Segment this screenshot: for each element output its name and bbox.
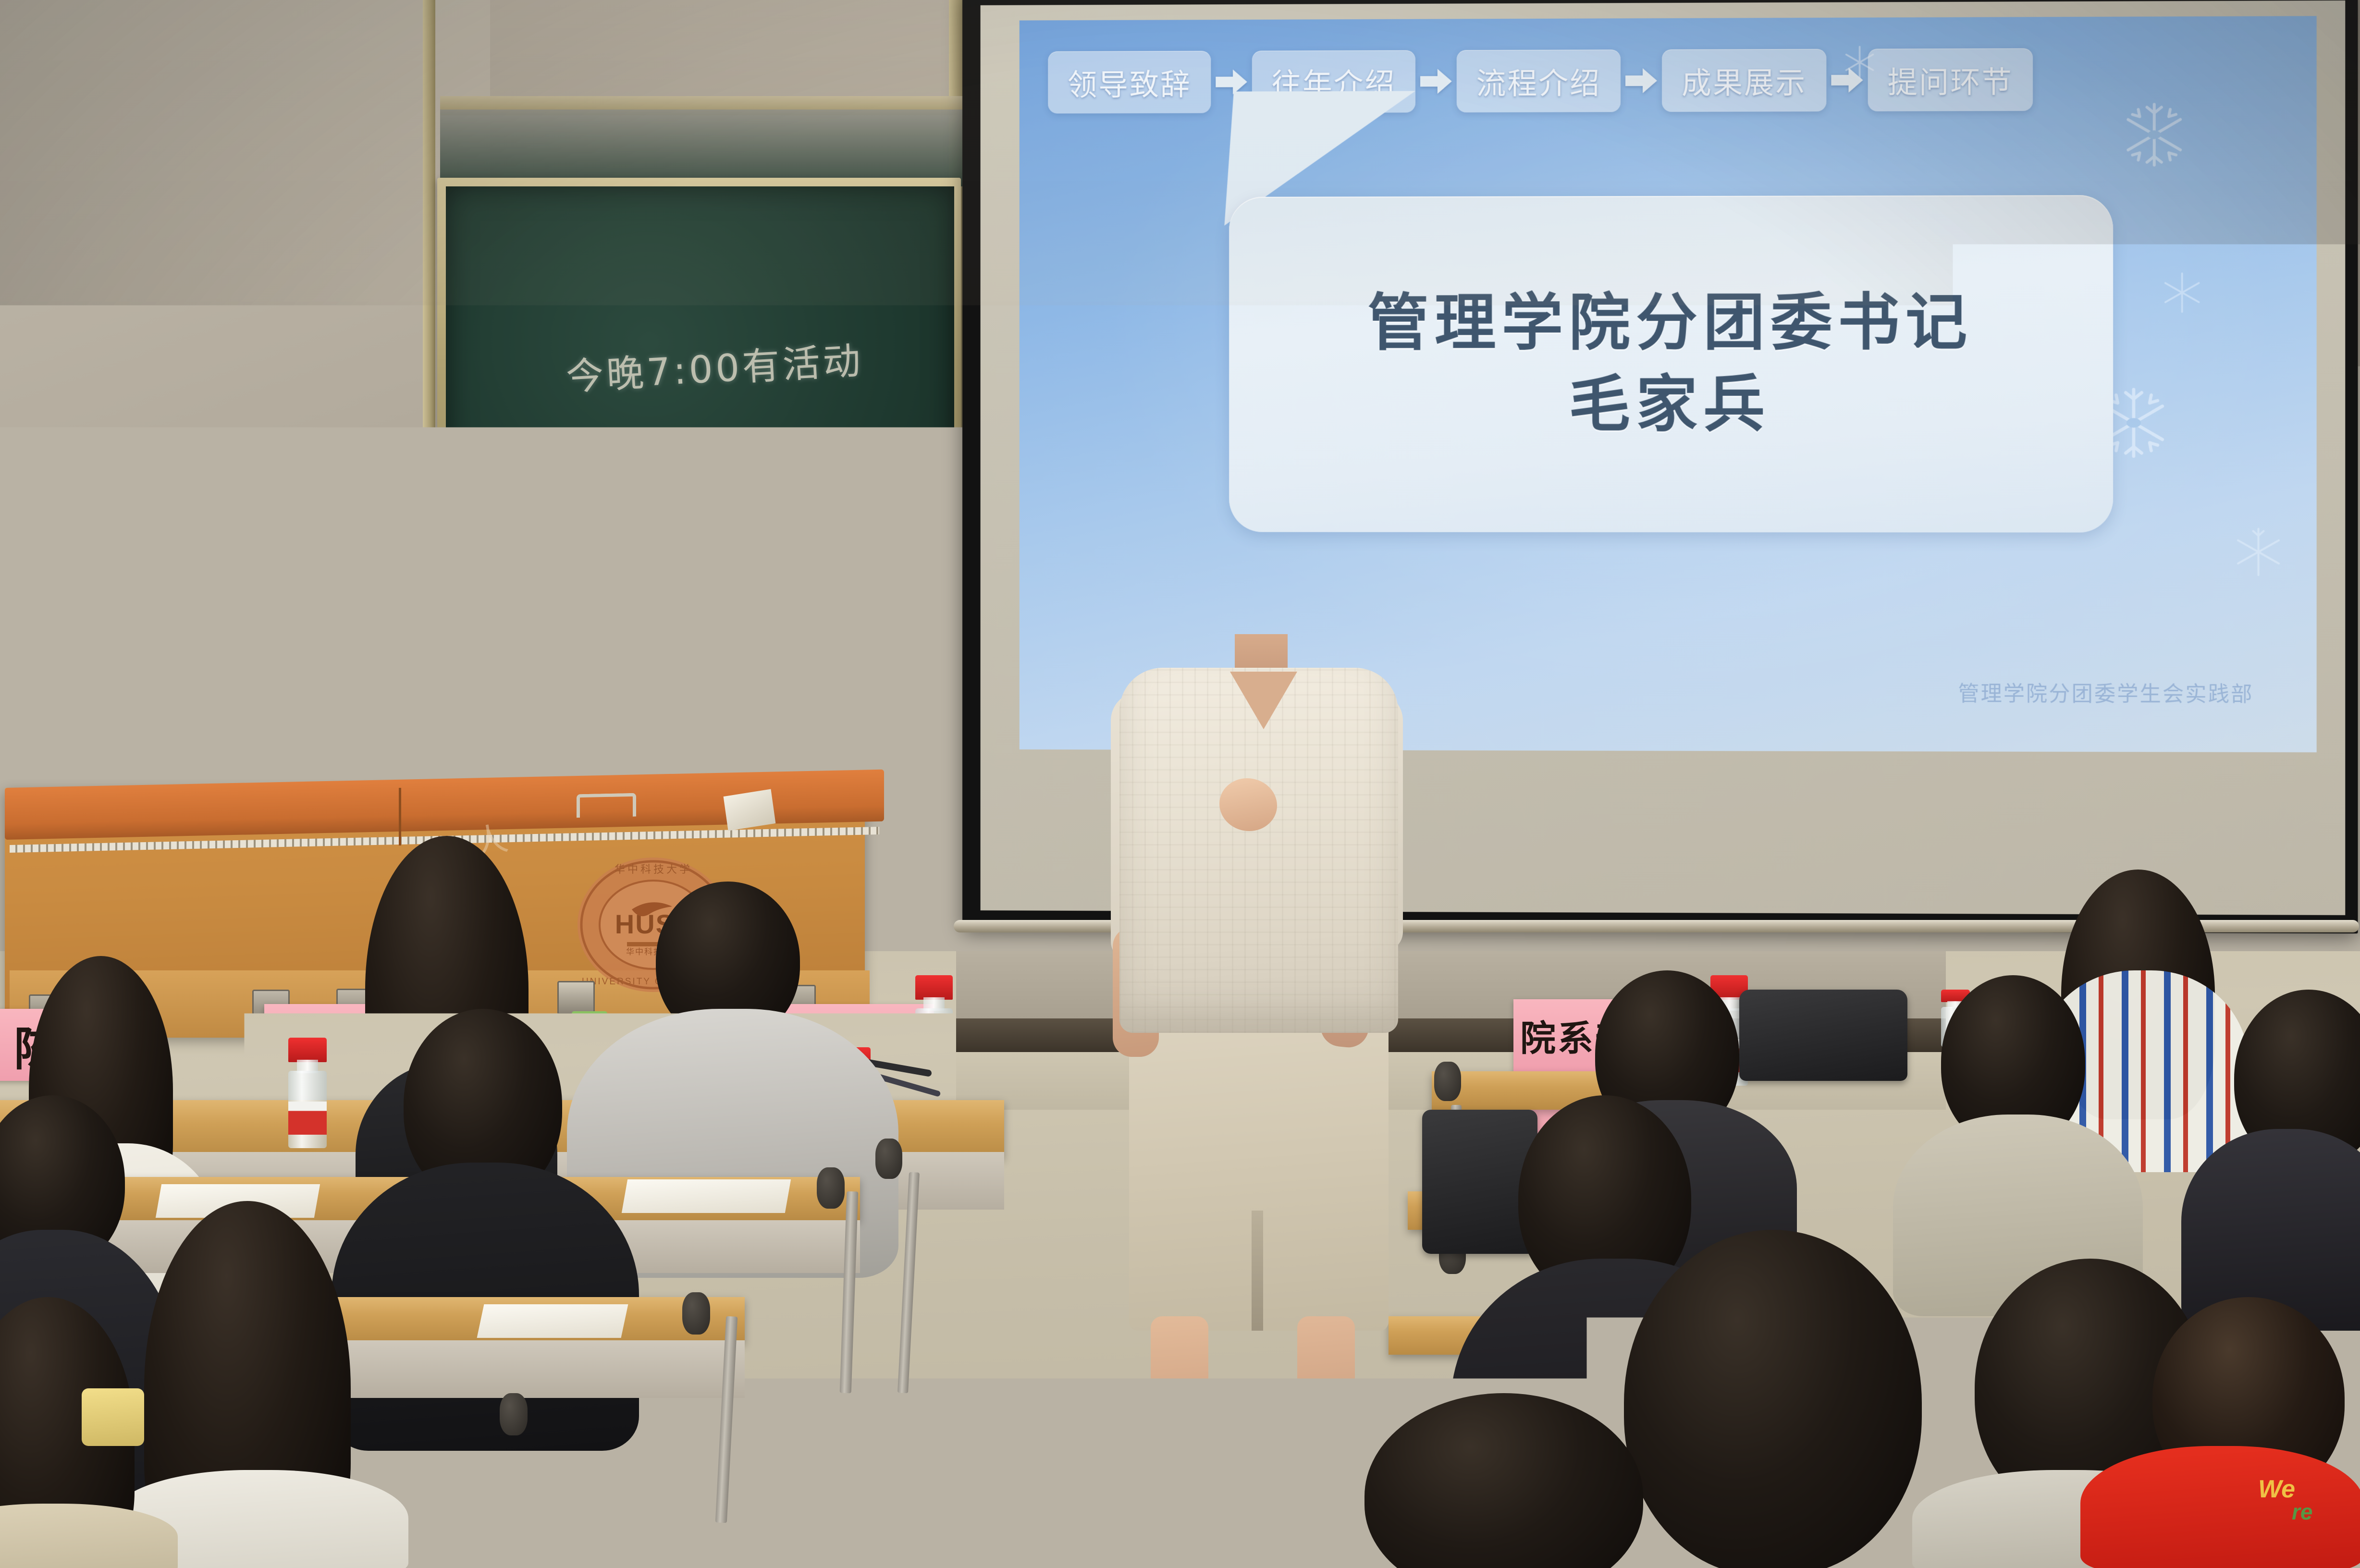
- snowflake-icon: [2229, 523, 2287, 581]
- left-wall: [0, 0, 490, 797]
- snowflake-icon: [1838, 40, 1881, 84]
- flow-step-4: 成果展示: [1662, 49, 1826, 112]
- speaker-hair: [1204, 525, 1319, 597]
- speaker-shirt-vneck: [1230, 672, 1297, 729]
- flow-step-5: 提问环节: [1868, 49, 2033, 111]
- presentation-slide: 领导致辞 往年介绍 流程介绍 成果展示: [1020, 16, 2317, 752]
- svg-text:华中科技大学: 华中科技大学: [615, 864, 692, 876]
- desk-port: [557, 981, 595, 1015]
- glasses-icon: [1215, 590, 1306, 611]
- desk-paper[interactable]: [477, 1304, 628, 1338]
- flow-step-3: 流程介绍: [1457, 49, 1621, 112]
- light-switch[interactable]: [382, 564, 412, 591]
- wall-pilaster-left: [423, 0, 435, 788]
- slide-footer-credit: 管理学院分团委学生会实践部: [1958, 676, 2253, 708]
- tshirt-graphic-text: re: [2292, 1499, 2312, 1525]
- flow-step-1: 领导致辞: [1048, 51, 1211, 113]
- speaker-leg-right: [1297, 1316, 1355, 1456]
- slide-title-line-2: 毛家兵: [1229, 354, 2113, 443]
- seat-knob: [817, 1167, 845, 1209]
- chalkboard-note: 今晚7:00有活动: [565, 330, 877, 443]
- flow-arrow-right-icon: [1415, 50, 1457, 112]
- speaker-shoe-left: [1059, 1434, 1139, 1487]
- floor-seam: [817, 1432, 1345, 1433]
- slide-title-line-1: 管理学院分团委书记: [1229, 272, 2113, 362]
- cup[interactable]: [82, 1388, 144, 1446]
- chalkboard-chalk-rail: [435, 637, 966, 648]
- snowflake-icon: [2118, 98, 2190, 171]
- snowflake-icon: [2157, 267, 2208, 318]
- lecture-hall-photo: 今晚7:00有活动 领导致辞 往年介绍 流程介绍: [0, 0, 2360, 1568]
- chalkboard-upper-panel: [440, 110, 964, 186]
- seat-knob: [500, 1393, 528, 1435]
- podium-handle[interactable]: [577, 793, 636, 818]
- speaker-shoe-right: [1220, 1434, 1300, 1487]
- water-bottle[interactable]: [288, 1038, 327, 1148]
- flow-arrow-right-icon: [1621, 49, 1662, 112]
- desk-paper[interactable]: [622, 1179, 791, 1213]
- backpack[interactable]: [1739, 990, 1907, 1081]
- seat-knob: [682, 1292, 710, 1335]
- seat-knob: [875, 1139, 902, 1179]
- speaker-leg-left: [1151, 1316, 1208, 1456]
- speaker-gesturing-hand: [1219, 778, 1277, 831]
- speaker-shorts-seam: [1252, 1211, 1263, 1331]
- seat-knob: [1434, 1062, 1461, 1101]
- speech-bubble: 管理学院分团委书记 毛家兵: [1229, 195, 2113, 532]
- speaker-mouth: [1244, 618, 1275, 627]
- tshirt-graphic-text: We: [2258, 1475, 2295, 1504]
- podium-lid-seam: [399, 788, 401, 845]
